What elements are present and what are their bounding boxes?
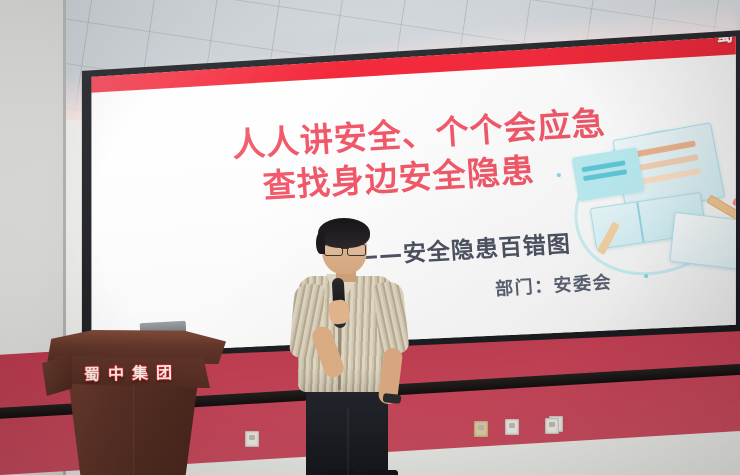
speaker-shoe bbox=[362, 470, 398, 475]
speaker-hand bbox=[327, 299, 350, 326]
wall-outlet bbox=[505, 419, 519, 435]
podium-front-panel: 蜀中集团 bbox=[48, 356, 210, 388]
wall-outlet bbox=[245, 431, 259, 447]
speaker-trousers bbox=[306, 384, 388, 475]
wristwatch bbox=[383, 393, 402, 404]
speaker bbox=[288, 222, 408, 475]
brand-logo-text: 蜀 中 bbox=[95, 30, 177, 43]
wall-outlet bbox=[545, 418, 559, 434]
wall-outlet bbox=[474, 421, 488, 437]
speaker-hair bbox=[318, 218, 370, 248]
podium-side-panel bbox=[42, 354, 72, 396]
podium: 蜀中集团 bbox=[36, 330, 226, 475]
speaker-shoe bbox=[322, 470, 358, 475]
podium-body bbox=[60, 384, 206, 475]
brand-logo: 蜀 中® bbox=[95, 30, 186, 45]
podium-sign: 蜀中集团 bbox=[78, 359, 180, 385]
glasses-bridge bbox=[341, 248, 349, 249]
speaker-right-arm bbox=[373, 281, 409, 356]
photo-stage: 蜀 中® 施政精药通医畅言互联云计 蜀中 bbox=[0, 0, 740, 475]
